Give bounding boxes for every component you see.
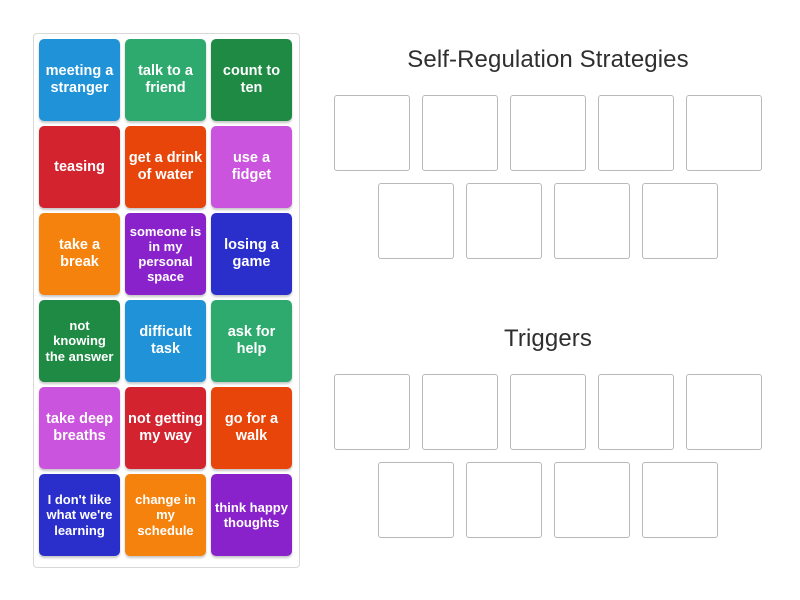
group-title: Self-Regulation Strategies <box>326 46 770 74</box>
drop-zone[interactable] <box>422 374 498 450</box>
group-triggers: Triggers <box>326 325 770 538</box>
word-tile[interactable]: talk to a friend <box>125 39 206 121</box>
word-tile[interactable]: difficult task <box>125 300 206 382</box>
word-tile-label: get a drink of water <box>128 150 203 184</box>
word-tile[interactable]: use a fidget <box>211 126 292 208</box>
word-tile-label: losing a game <box>214 237 289 271</box>
word-tile[interactable]: think happy thoughts <box>211 474 292 556</box>
word-tile-label: use a fidget <box>214 150 289 184</box>
word-tile[interactable]: not getting my way <box>125 387 206 469</box>
drop-zone[interactable] <box>378 183 454 259</box>
drop-zone[interactable] <box>686 95 762 171</box>
word-tile-label: meeting a stranger <box>42 63 117 97</box>
drop-zone[interactable] <box>510 374 586 450</box>
word-tile-label: ask for help <box>214 324 289 358</box>
word-tile-label: someone is in my personal space <box>128 224 203 284</box>
word-tile[interactable]: losing a game <box>211 213 292 295</box>
word-tile-grid: meeting a stranger talk to a friend coun… <box>39 39 294 556</box>
word-bank-panel: meeting a stranger talk to a friend coun… <box>33 33 300 568</box>
drop-zone-row <box>326 183 770 259</box>
word-tile-label: talk to a friend <box>128 63 203 97</box>
word-tile-label: go for a walk <box>214 411 289 445</box>
drop-zone[interactable] <box>686 374 762 450</box>
word-tile[interactable]: take deep breaths <box>39 387 120 469</box>
drop-zone[interactable] <box>642 183 718 259</box>
word-tile[interactable]: count to ten <box>211 39 292 121</box>
word-tile[interactable]: not knowing the answer <box>39 300 120 382</box>
word-tile[interactable]: go for a walk <box>211 387 292 469</box>
drop-zone[interactable] <box>554 462 630 538</box>
drop-zone[interactable] <box>466 183 542 259</box>
word-tile-label: change in my schedule <box>128 492 203 537</box>
drop-zone[interactable] <box>598 374 674 450</box>
word-tile-label: teasing <box>42 159 117 176</box>
group-self-regulation-strategies: Self-Regulation Strategies <box>326 46 770 259</box>
word-tile-label: count to ten <box>214 63 289 97</box>
drop-zone[interactable] <box>378 462 454 538</box>
word-tile[interactable]: change in my schedule <box>125 474 206 556</box>
word-tile-label: I don't like what we're learning <box>42 492 117 537</box>
word-tile[interactable]: take a break <box>39 213 120 295</box>
word-tile-label: take a break <box>42 237 117 271</box>
word-tile-label: take deep breaths <box>42 411 117 445</box>
group-title: Triggers <box>326 325 770 353</box>
drop-zone-row <box>326 374 770 450</box>
drop-zone-row <box>326 462 770 538</box>
drop-zone-row <box>326 95 770 171</box>
word-tile-label: not getting my way <box>128 411 203 445</box>
drop-zone[interactable] <box>422 95 498 171</box>
drop-zone[interactable] <box>334 374 410 450</box>
word-tile[interactable]: ask for help <box>211 300 292 382</box>
drop-zone-rows <box>326 374 770 538</box>
word-tile[interactable]: someone is in my personal space <box>125 213 206 295</box>
drop-zone[interactable] <box>334 95 410 171</box>
word-tile-label: think happy thoughts <box>214 500 289 530</box>
drop-zone[interactable] <box>554 183 630 259</box>
word-tile[interactable]: I don't like what we're learning <box>39 474 120 556</box>
word-tile-label: difficult task <box>128 324 203 358</box>
word-tile[interactable]: meeting a stranger <box>39 39 120 121</box>
drop-zone[interactable] <box>642 462 718 538</box>
word-tile-label: not knowing the answer <box>42 318 117 363</box>
drop-zone[interactable] <box>598 95 674 171</box>
word-tile[interactable]: teasing <box>39 126 120 208</box>
word-tile[interactable]: get a drink of water <box>125 126 206 208</box>
drop-zone[interactable] <box>466 462 542 538</box>
drop-zone[interactable] <box>510 95 586 171</box>
drop-zone-rows <box>326 95 770 259</box>
activity-stage: meeting a stranger talk to a friend coun… <box>0 0 800 600</box>
